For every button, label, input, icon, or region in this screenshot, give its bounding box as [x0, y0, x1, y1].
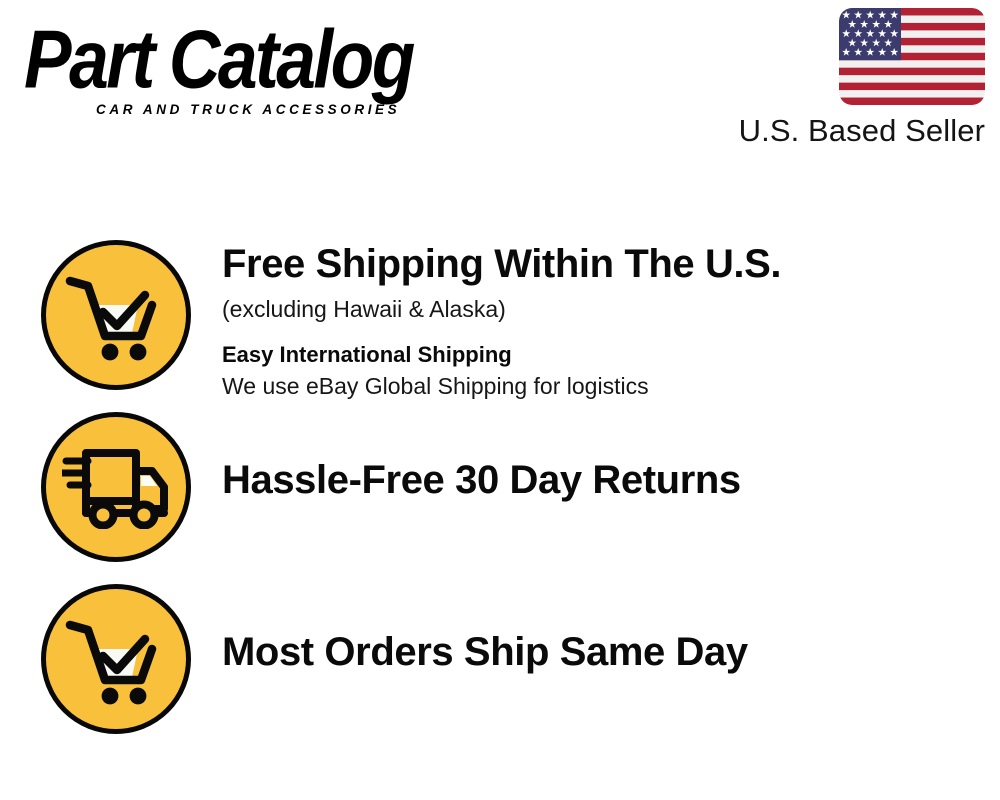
shopping-cart-check-icon: [64, 611, 168, 707]
brand-logo[interactable]: Part Catalog CAR AND TRUCK ACCESSORIES: [24, 18, 494, 118]
feature-title: Most Orders Ship Same Day: [222, 630, 1000, 675]
seller-badge: U.S. Based Seller: [685, 8, 985, 149]
seller-badge-label: U.S. Based Seller: [685, 113, 985, 149]
feature-text-block: Most Orders Ship Same Day: [222, 584, 1000, 675]
svg-text:Catalog: Catalog: [169, 18, 414, 106]
feature-row: Hassle-Free 30 Day Returns: [0, 412, 1000, 562]
feature-text-block: Hassle-Free 30 Day Returns: [222, 412, 1000, 503]
feature-secondary-title: Easy International Shipping: [222, 341, 1000, 369]
feature-title: Hassle-Free 30 Day Returns: [222, 458, 1000, 503]
feature-row: Most Orders Ship Same Day: [0, 584, 1000, 734]
brand-logo-wordmark: Part Catalog: [24, 18, 414, 106]
feature-icon-badge: [41, 240, 191, 390]
brand-logo-tagline: CAR AND TRUCK ACCESSORIES: [96, 102, 400, 117]
feature-subtitle: (excluding Hawaii & Alaska): [222, 295, 1000, 324]
svg-text:Part: Part: [24, 18, 158, 106]
feature-icon-badge: [41, 584, 191, 734]
feature-title: Free Shipping Within The U.S.: [222, 242, 1000, 287]
feature-text-block: Free Shipping Within The U.S. (excluding…: [222, 240, 1000, 401]
delivery-truck-icon: [62, 445, 170, 529]
feature-row: Free Shipping Within The U.S. (excluding…: [0, 240, 1000, 401]
us-flag-icon: [839, 8, 985, 105]
shopping-cart-check-icon: [64, 267, 168, 363]
feature-secondary-subtitle: We use eBay Global Shipping for logistic…: [222, 372, 1000, 401]
feature-icon-badge: [41, 412, 191, 562]
